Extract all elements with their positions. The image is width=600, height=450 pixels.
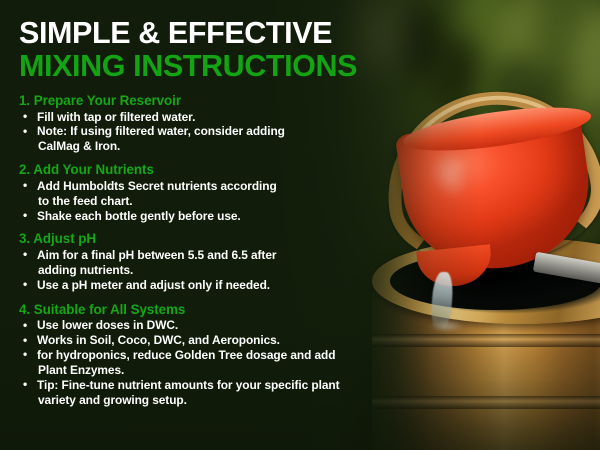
headline-line-1: SIMPLE & EFFECTIVE (19, 17, 600, 50)
section-title: 2. Add Your Nutrients (19, 161, 600, 179)
list-item: Tip: Fine-tune nutrient amounts for your… (19, 378, 600, 408)
instruction-section-3: 3. Adjust pH Aim for a final pH between … (19, 230, 600, 292)
list-item: for hydroponics, reduce Golden Tree dosa… (19, 348, 600, 378)
mixing-instructions-poster: SIMPLE & EFFECTIVE MIXING INSTRUCTIONS 1… (0, 0, 600, 450)
section-title: 1. Prepare Your Reservoir (19, 92, 600, 110)
bullet-text: for hydroponics, reduce Golden Tree dosa… (37, 348, 335, 362)
bullet-text-continuation: adding nutrients. (37, 263, 600, 278)
instruction-section-1: 1. Prepare Your Reservoir Fill with tap … (19, 92, 600, 154)
list-item: Use lower doses in DWC. (19, 318, 600, 333)
section-title: 3. Adjust pH (19, 230, 600, 248)
bullet-text: Tip: Fine-tune nutrient amounts for your… (37, 378, 339, 392)
bullet-text: Aim for a final pH between 5.5 and 6.5 a… (37, 248, 276, 262)
poster-content: SIMPLE & EFFECTIVE MIXING INSTRUCTIONS 1… (0, 0, 600, 450)
list-item: Shake each bottle gently before use. (19, 209, 600, 224)
bullet-text: Works in Soil, Coco, DWC, and Aeroponics… (37, 333, 280, 347)
section-bullet-list: Aim for a final pH between 5.5 and 6.5 a… (19, 248, 600, 293)
page-title: SIMPLE & EFFECTIVE MIXING INSTRUCTIONS (19, 17, 600, 83)
bullet-text: Fill with tap or filtered water. (37, 110, 195, 124)
section-bullet-list: Use lower doses in DWC. Works in Soil, C… (19, 318, 600, 407)
list-item: Aim for a final pH between 5.5 and 6.5 a… (19, 248, 600, 278)
bullet-text: Shake each bottle gently before use. (37, 209, 241, 223)
bullet-text-continuation: CalMag & Iron. (37, 139, 600, 154)
bullet-text-continuation: to the feed chart. (37, 194, 600, 209)
headline-line-2: MIXING INSTRUCTIONS (19, 50, 600, 83)
list-item: Use a pH meter and adjust only if needed… (19, 278, 600, 293)
bullet-text: Use lower doses in DWC. (37, 318, 178, 332)
list-item: Note: If using filtered water, consider … (19, 124, 600, 154)
section-title: 4. Suitable for All Systems (19, 301, 600, 319)
list-item: Works in Soil, Coco, DWC, and Aeroponics… (19, 333, 600, 348)
bullet-text: Add Humboldts Secret nutrients according (37, 179, 277, 193)
bullet-text: Use a pH meter and adjust only if needed… (37, 278, 270, 292)
bullet-text-continuation: variety and growing setup. (37, 393, 600, 408)
list-item: Fill with tap or filtered water. (19, 110, 600, 125)
list-item: Add Humboldts Secret nutrients according… (19, 179, 600, 209)
section-bullet-list: Add Humboldts Secret nutrients according… (19, 179, 600, 224)
bullet-text: Note: If using filtered water, consider … (37, 124, 285, 138)
instruction-section-2: 2. Add Your Nutrients Add Humboldts Secr… (19, 161, 600, 223)
section-bullet-list: Fill with tap or filtered water. Note: I… (19, 110, 600, 155)
instruction-section-4: 4. Suitable for All Systems Use lower do… (19, 301, 600, 408)
bullet-text-continuation: Plant Enzymes. (37, 363, 600, 378)
